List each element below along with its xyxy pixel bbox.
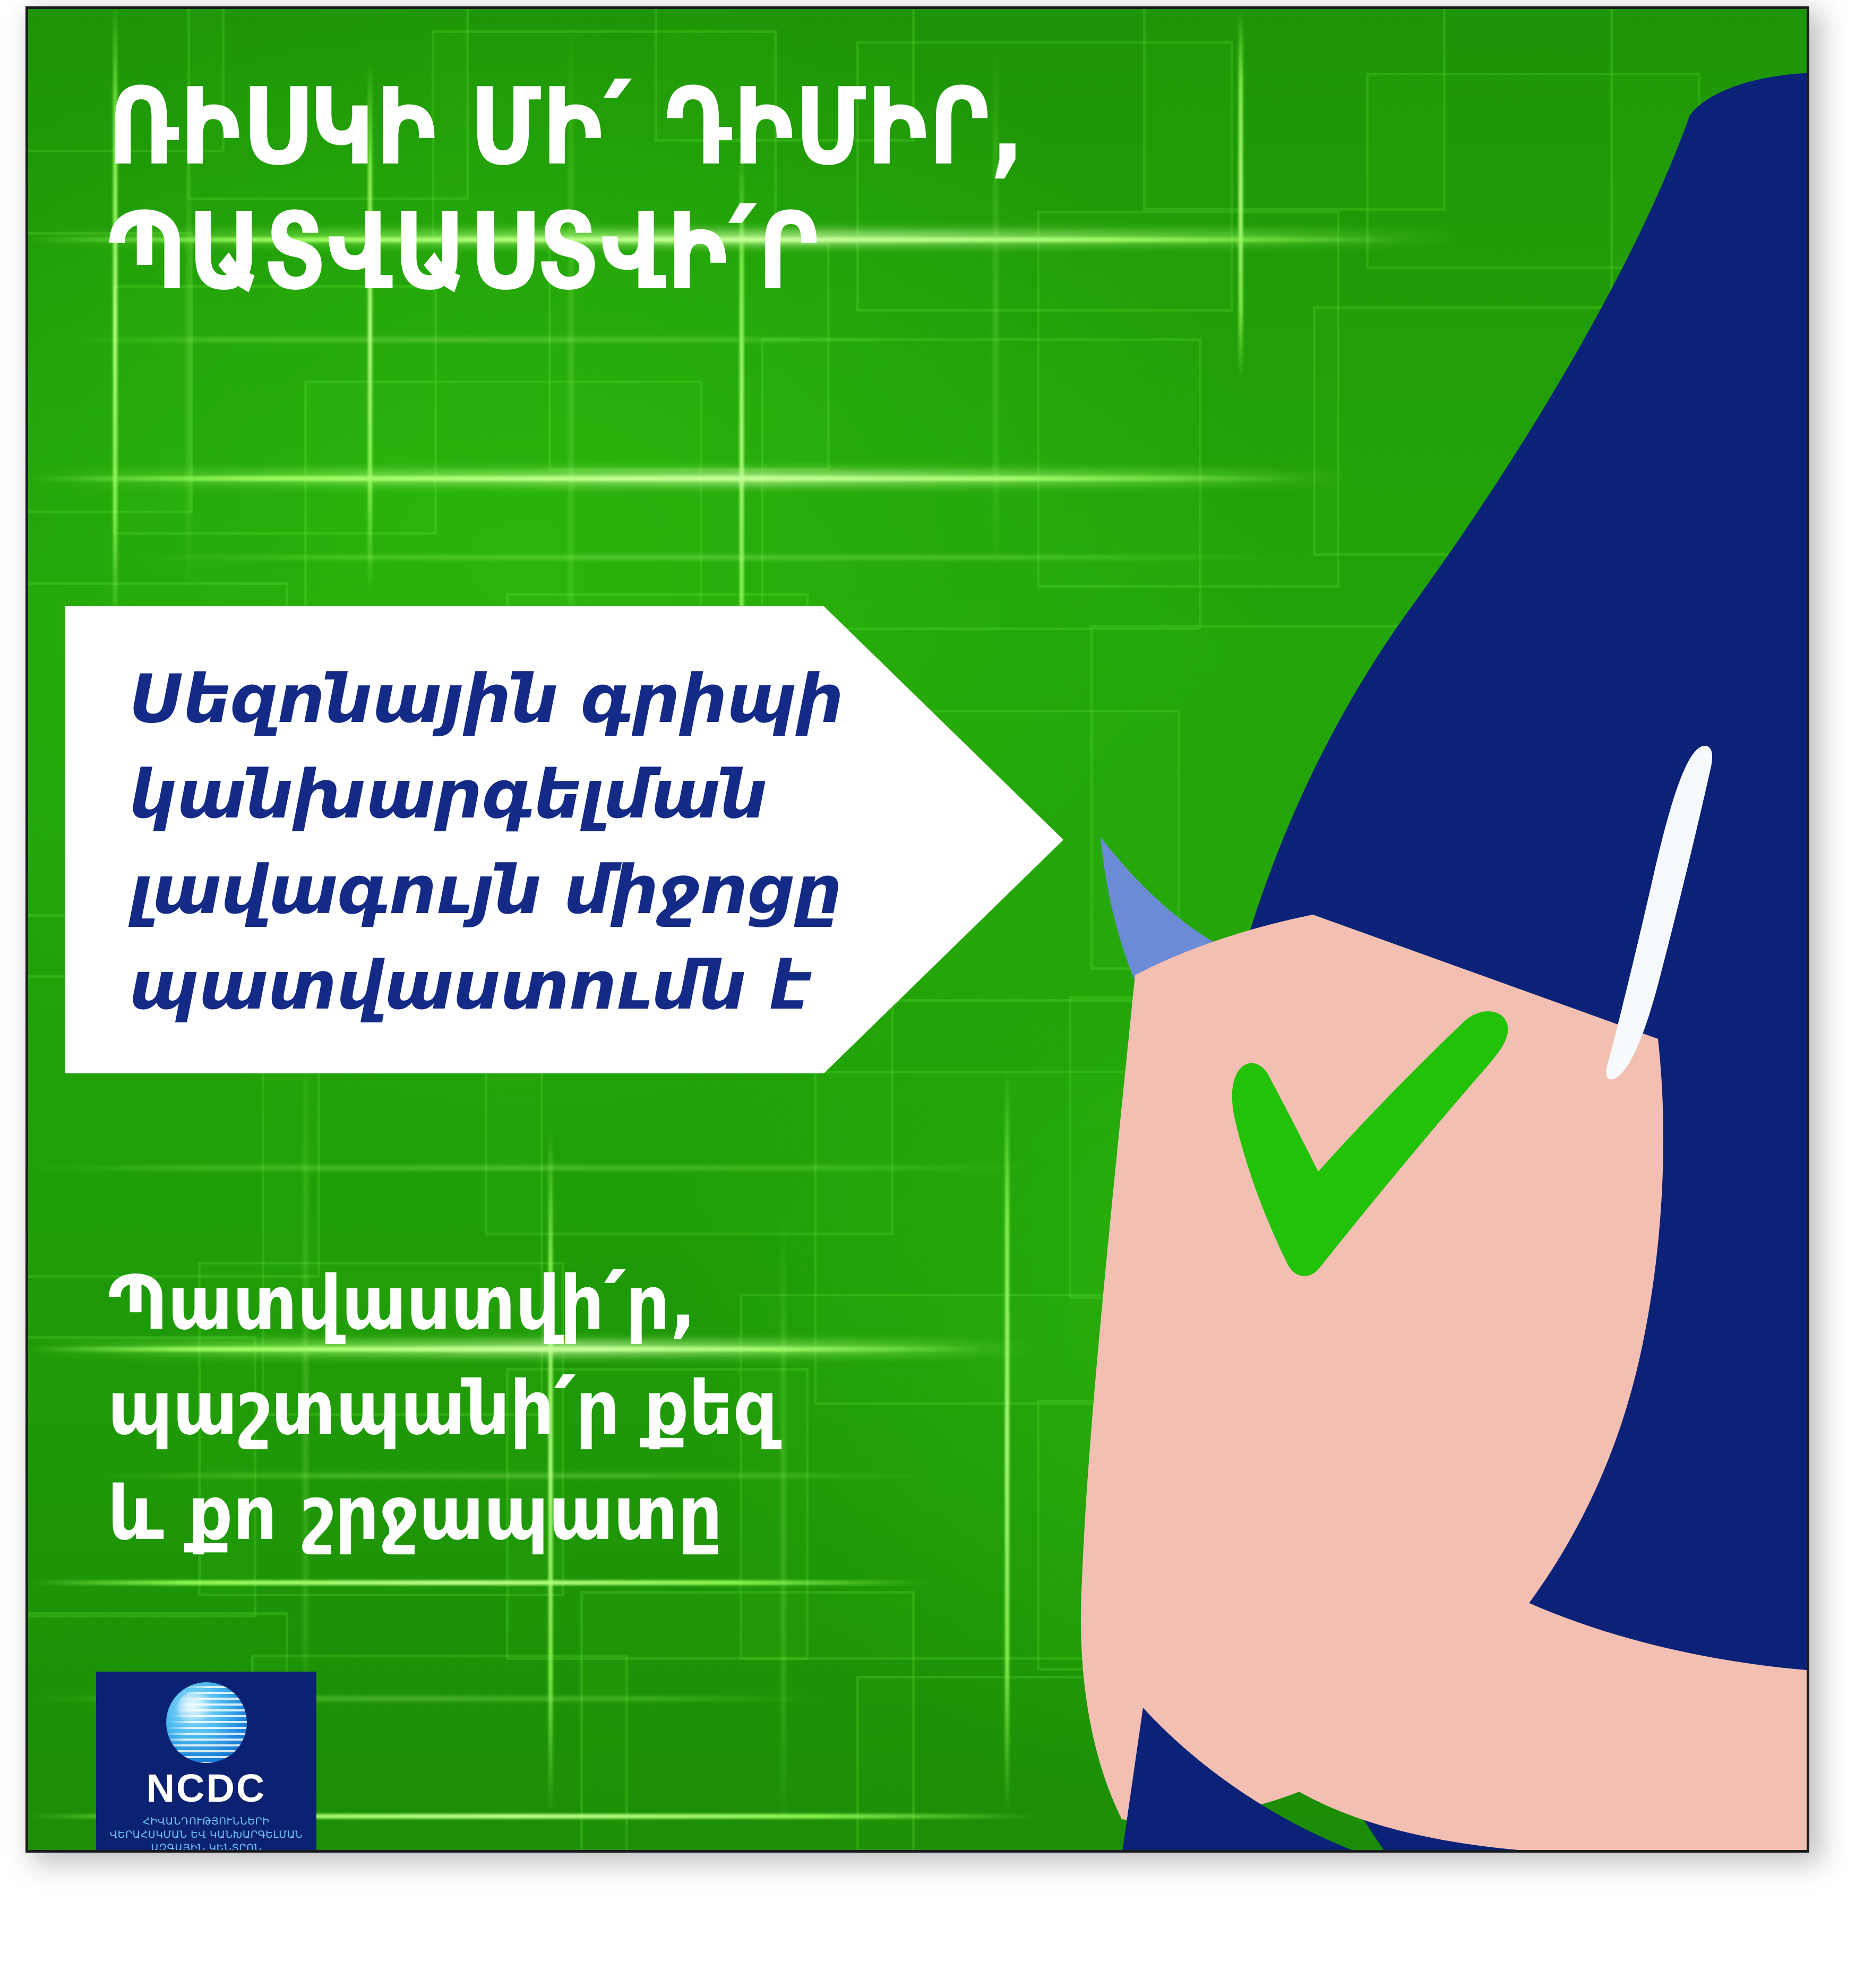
poster-subheadline: Պատվաստվի՛ր, պաշտպանի՛ր քեզ և քո շրջապատ… <box>108 1251 1010 1567</box>
callout-line-4: պատվաստումն է <box>129 938 862 1034</box>
logo-subtitle-line-1: ՀԻՎԱՆԴՈՒԹՅՈՒՆՆԵՐԻ <box>100 1815 312 1828</box>
callout-line-3: լավագույն միջոցը <box>129 842 862 938</box>
logo-subtitle-line-3: ԱԶԳԱՅԻՆ ԿԵՆՏՐՈՆ <box>100 1841 312 1853</box>
title-line-1: ՌԻՍԿԻ ՄԻ՛ ԴԻՄԻՐ, <box>108 65 1204 190</box>
logo-acronym: NCDC <box>96 1768 316 1809</box>
subheadline-line-3: և քո շրջապատը <box>108 1461 947 1567</box>
subheadline-line-2: պաշտպանի՛ր քեզ <box>108 1356 947 1461</box>
poster-title: ՌԻՍԿԻ ՄԻ՛ ԴԻՄԻՐ, ՊԱՏՎԱՍՏՎԻ՛Ր <box>108 65 1382 314</box>
callout-line-1: Սեզոնային գրիպի <box>129 651 862 747</box>
logo-subtitle: ՀԻՎԱՆԴՈՒԹՅՈՒՆՆԵՐԻ ՎԵՐԱՀՍԿՄԱՆ ԵՎ ԿԱՆԽԱՐԳԵ… <box>100 1815 312 1853</box>
ncdc-logo: NCDC ՀԻՎԱՆԴՈՒԹՅՈՒՆՆԵՐԻ ՎԵՐԱՀՍԿՄԱՆ ԵՎ ԿԱՆ… <box>96 1672 316 1853</box>
globe-icon <box>166 1682 247 1763</box>
title-line-2: ՊԱՏՎԱՍՏՎԻ՛Ր <box>108 190 1204 314</box>
logo-subtitle-line-2: ՎԵՐԱՀՍԿՄԱՆ ԵՎ ԿԱՆԽԱՐԳԵԼՄԱՆ <box>100 1828 312 1841</box>
poster-root: ՌԻՍԿԻ ՄԻ՛ ԴԻՄԻՐ, ՊԱՏՎԱՍՏՎԻ՛Ր Սեզոնային գ… <box>0 0 1873 1988</box>
subheadline-line-1: Պատվաստվի՛ր, <box>108 1251 947 1356</box>
poster-card: ՌԻՍԿԻ ՄԻ՛ ԴԻՄԻՐ, ՊԱՏՎԱՍՏՎԻ՛Ր Սեզոնային գ… <box>25 6 1809 1853</box>
callout-text: Սեզոնային գրիպի կանխարգելման լավագույն մ… <box>129 651 862 1034</box>
callout-line-2: կանխարգելման <box>129 747 862 842</box>
